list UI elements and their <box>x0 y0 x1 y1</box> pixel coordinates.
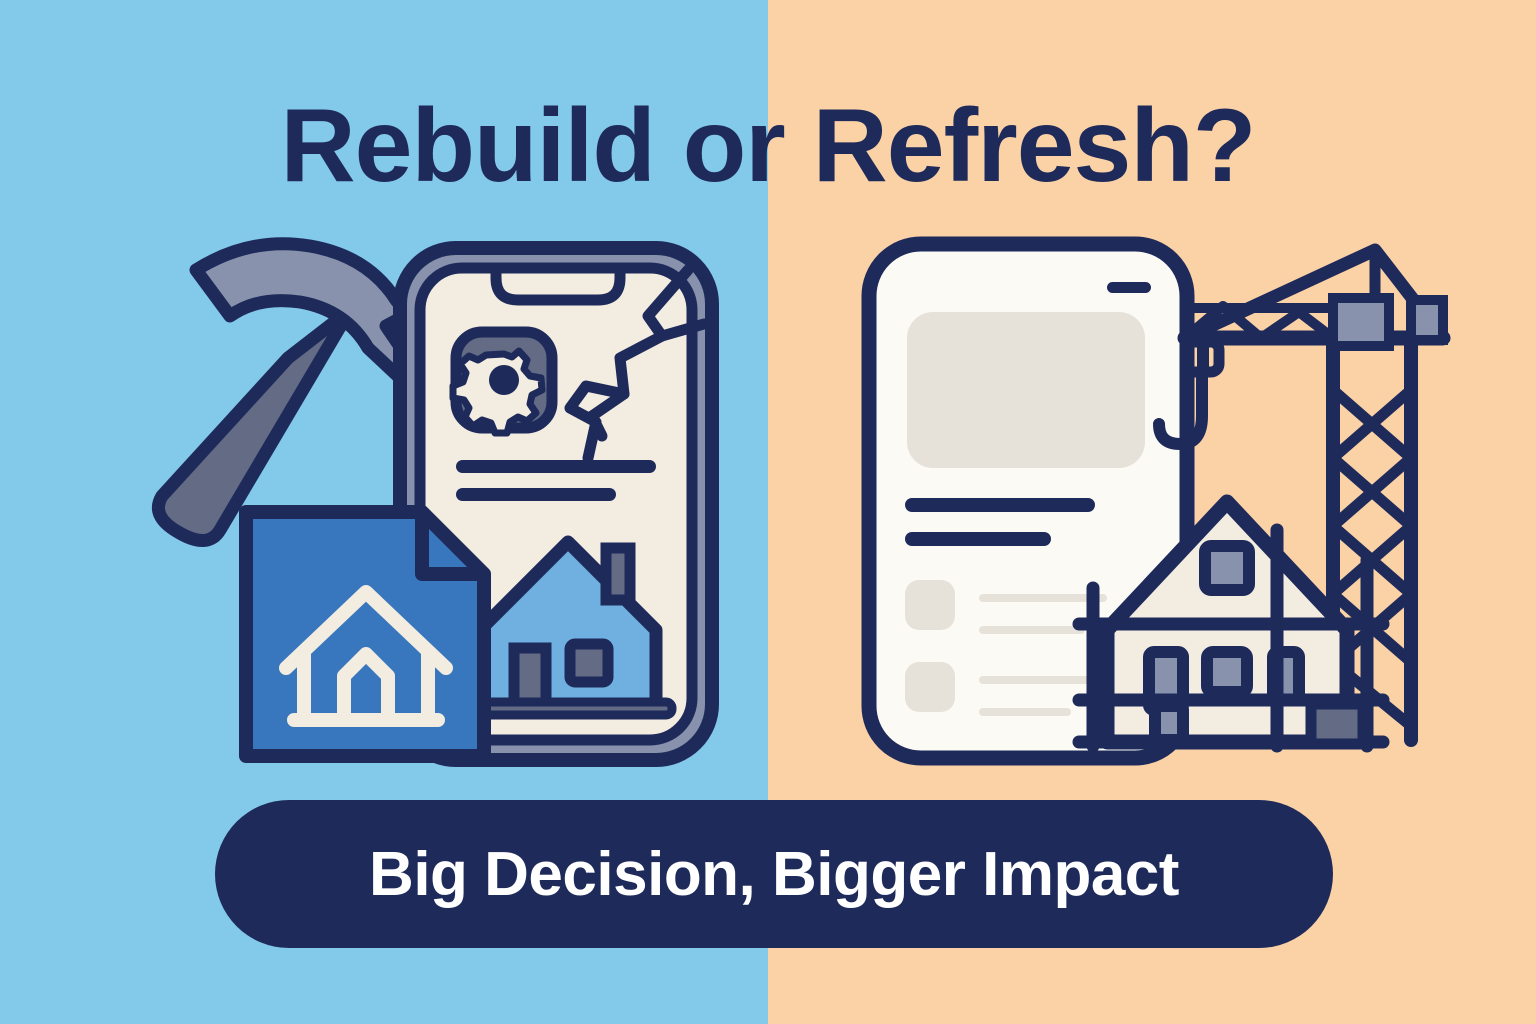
blueprint-card-icon <box>246 512 484 756</box>
left-illustration <box>100 230 740 770</box>
scaffold-panel <box>1311 704 1363 744</box>
phone-text-line <box>905 498 1095 512</box>
phone-text-line <box>456 460 656 473</box>
tagline-banner: Big Decision, Bigger Impact <box>215 800 1333 948</box>
hero-block <box>907 312 1145 468</box>
speaker-pill <box>1107 282 1151 293</box>
settings-app-icon <box>453 332 552 433</box>
phone-text-line <box>905 532 1051 546</box>
page-title: Rebuild or Refresh? <box>0 92 1536 201</box>
tagline-text: Big Decision, Bigger Impact <box>369 839 1179 910</box>
poster-canvas: Rebuild or Refresh? Big Decision, Bigger… <box>0 0 1536 1024</box>
crane-cab <box>1333 298 1389 346</box>
crane-counterweight <box>1411 300 1443 340</box>
right-illustration <box>855 230 1475 770</box>
phone-text-line <box>456 488 616 501</box>
